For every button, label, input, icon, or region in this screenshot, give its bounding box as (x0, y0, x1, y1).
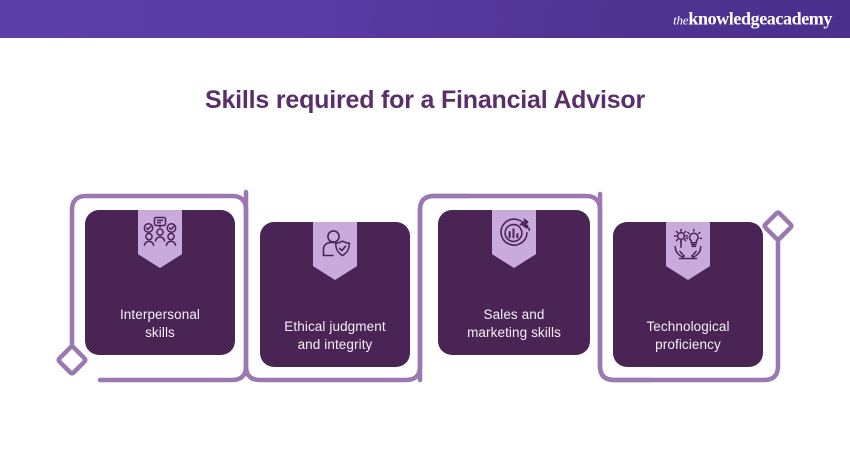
skill-card-label: Interpersonal skills (91, 306, 229, 342)
skill-card-interpersonal[interactable]: Interpersonal skills (85, 210, 235, 355)
brand-logo-the: the (673, 13, 688, 28)
header-bar: theknowledgeacademy (0, 0, 850, 38)
hands-gear-lightbulb-icon (666, 222, 710, 280)
skill-card-label: Sales and marketing skills (444, 306, 584, 342)
skill-card-label: Technological proficiency (619, 318, 757, 354)
person-shield-check-icon (313, 222, 357, 280)
skill-card-label: Ethical judgment and integrity (266, 318, 404, 354)
growth-chart-target-icon (492, 210, 536, 268)
skill-card-technological-proficiency[interactable]: Technological proficiency (613, 222, 763, 367)
people-discussion-icon (138, 210, 182, 268)
page-title: Skills required for a Financial Advisor (0, 86, 850, 115)
brand-logo-name: knowledgeacademy (688, 9, 832, 29)
skills-diagram: Interpersonal skills Ethical judgment an… (0, 170, 850, 400)
skill-card-ethical-judgment[interactable]: Ethical judgment and integrity (260, 222, 410, 367)
start-diamond (58, 346, 86, 374)
skill-card-sales-marketing[interactable]: Sales and marketing skills (438, 210, 590, 355)
brand-logo: theknowledgeacademy (673, 10, 832, 29)
end-diamond (764, 212, 792, 240)
